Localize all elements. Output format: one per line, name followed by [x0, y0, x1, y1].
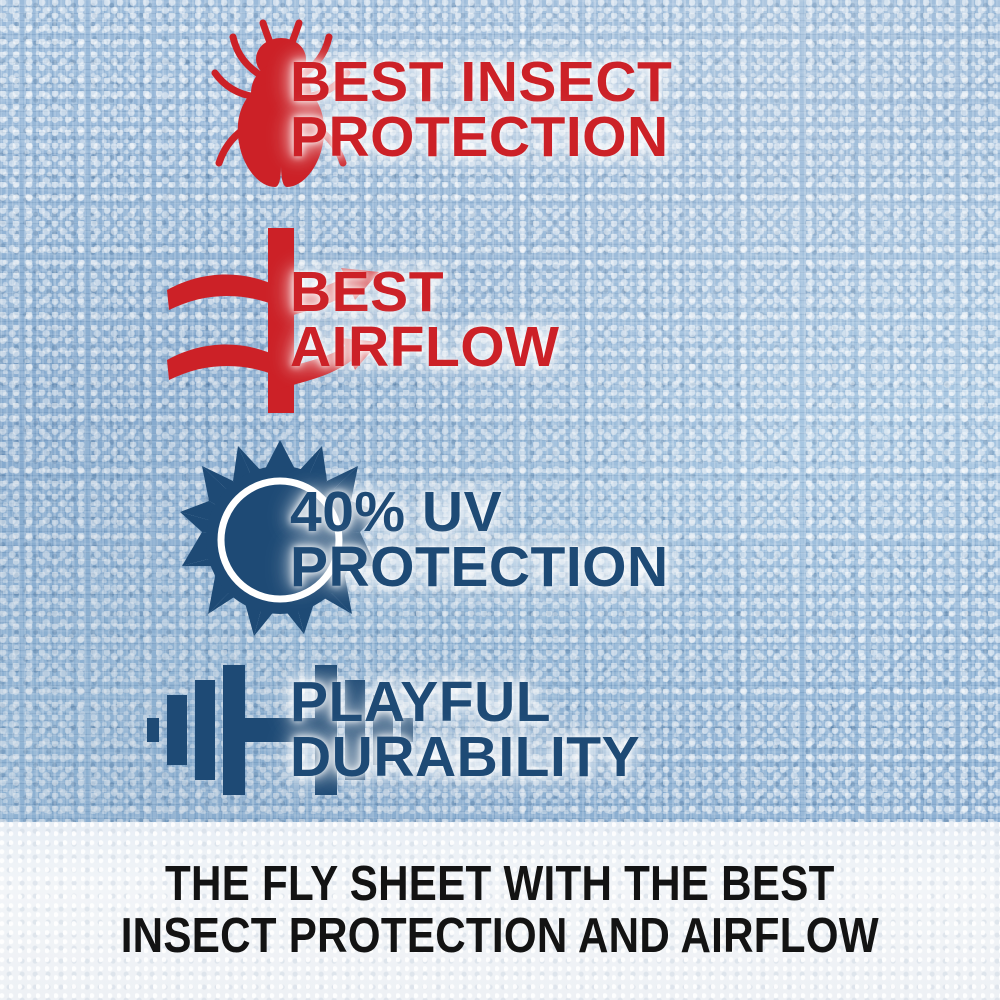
- feature-row-airflow: BEST AIRFLOW: [0, 225, 1000, 415]
- feature-row-insect-protection: BEST INSECT PROTECTION: [0, 10, 1000, 210]
- feature-label-airflow: BEST AIRFLOW: [290, 265, 559, 376]
- feature-row-durability: PLAYFUL DURABILITY: [0, 645, 1000, 815]
- feature-row-uv-protection: 40% UV PROTECTION: [0, 440, 1000, 640]
- feature-label-durability: PLAYFUL DURABILITY: [290, 675, 640, 786]
- footer-caption-text: THE FLY SHEET WITH THE BEST INSECT PROTE…: [121, 859, 879, 963]
- infographic-canvas: BEST INSECT PROTECTION BEST AIRFLOW: [0, 0, 1000, 1000]
- feature-label-uv-protection: 40% UV PROTECTION: [290, 485, 669, 596]
- footer-caption-band: THE FLY SHEET WITH THE BEST INSECT PROTE…: [0, 822, 1000, 1000]
- feature-label-insect-protection: BEST INSECT PROTECTION: [290, 55, 672, 166]
